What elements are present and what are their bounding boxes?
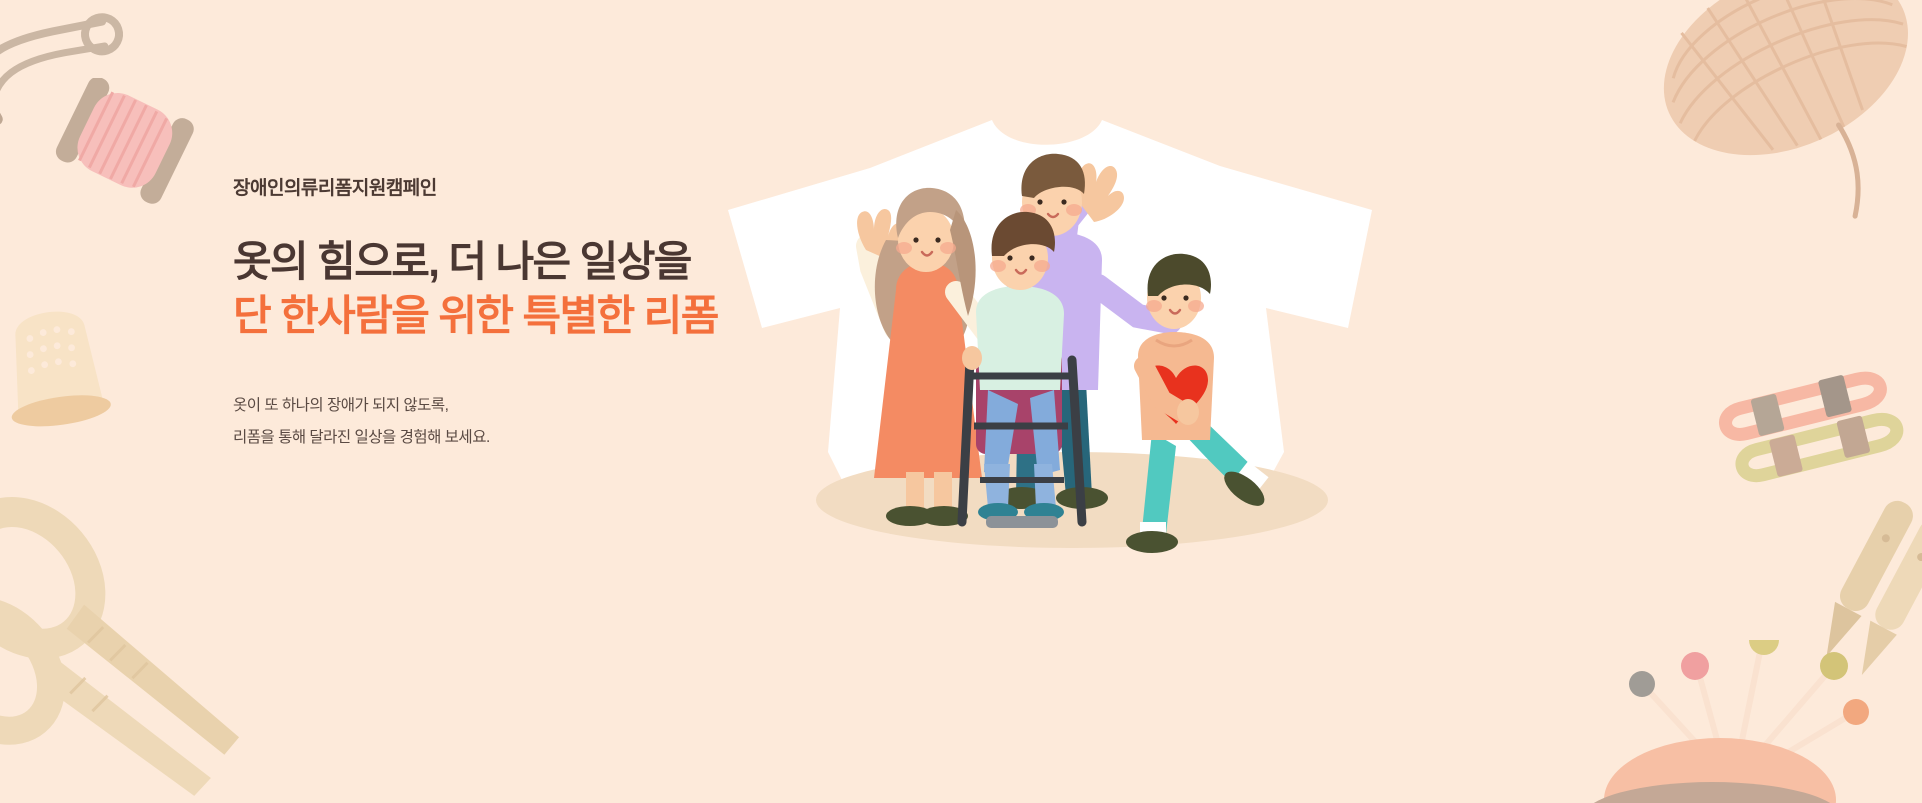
embroidery-floss-icon bbox=[1716, 352, 1922, 492]
safety-pin-icon bbox=[0, 5, 150, 135]
thimble-icon bbox=[0, 300, 130, 460]
pincushion-icon bbox=[1580, 640, 1922, 803]
campaign-hero-banner: 장애인의류리폼지원캠페인 옷의 힘으로, 더 나은 일상을 단 한사람을 위한 … bbox=[0, 0, 1922, 803]
thread-spool-icon bbox=[48, 78, 208, 208]
hero-illustration bbox=[700, 60, 1400, 580]
yarn-ball-icon bbox=[1640, 0, 1922, 240]
seam-ripper-icon bbox=[1820, 500, 1922, 720]
scissors-icon bbox=[0, 470, 260, 803]
